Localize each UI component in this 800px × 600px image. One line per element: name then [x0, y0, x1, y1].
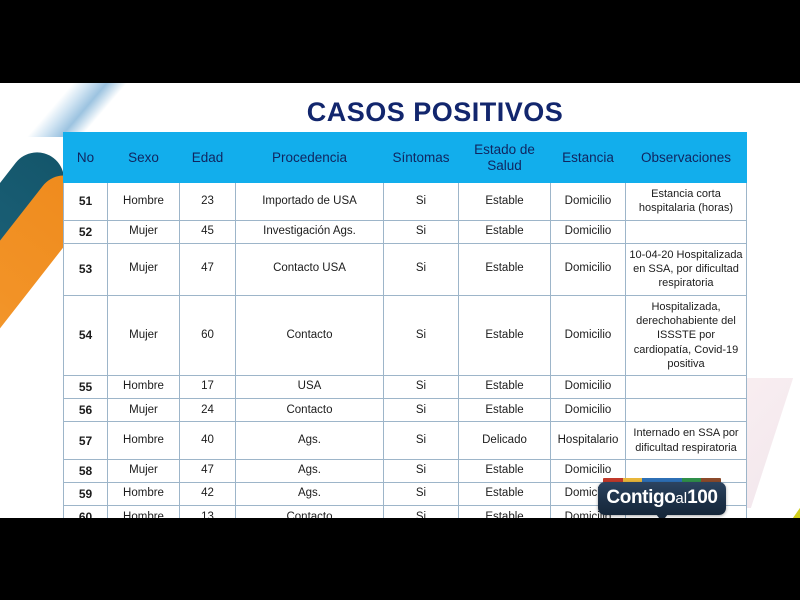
cell-no: 51 — [64, 183, 108, 221]
brand-word-light: al — [675, 490, 687, 507]
cell-estancia: Domicilio — [551, 183, 626, 221]
cell-procedencia: USA — [236, 376, 384, 399]
table-row: 56Mujer24ContactoSiEstableDomicilio — [64, 399, 747, 422]
column-header-procedencia: Procedencia — [236, 133, 384, 183]
cell-edad: 23 — [180, 183, 236, 221]
cell-no: 58 — [64, 460, 108, 483]
cell-procedencia: Ags. — [236, 422, 384, 460]
cell-procedencia: Importado de USA — [236, 183, 384, 221]
cell-sintomas: Si — [384, 483, 459, 506]
cell-sexo: Mujer — [108, 460, 180, 483]
cell-edad: 47 — [180, 460, 236, 483]
cell-procedencia: Contacto — [236, 295, 384, 375]
cell-no: 57 — [64, 422, 108, 460]
cell-edad: 13 — [180, 506, 236, 518]
slide-canvas: CASOS POSITIVOS No Sexo Edad Procedencia… — [0, 83, 800, 518]
cell-estado: Estable — [459, 295, 551, 375]
cell-no: 52 — [64, 220, 108, 243]
table-row: 55Hombre17USASiEstableDomicilio — [64, 376, 747, 399]
cell-edad: 17 — [180, 376, 236, 399]
brand-word-number: 100 — [687, 487, 718, 508]
green-yellow-diagonal-bar-decoration — [740, 356, 800, 518]
cell-estado: Estable — [459, 243, 551, 295]
cell-observaciones — [626, 399, 747, 422]
cell-sintomas: Si — [384, 460, 459, 483]
cell-procedencia: Contacto — [236, 399, 384, 422]
cell-sexo: Hombre — [108, 506, 180, 518]
cell-no: 53 — [64, 243, 108, 295]
brand-logo-bubble: Contigoal100 — [598, 482, 726, 515]
column-header-sintomas: Síntomas — [384, 133, 459, 183]
cell-observaciones: 10-04-20 Hospitalizada en SSA, por dific… — [626, 243, 747, 295]
cell-estado: Estable — [459, 399, 551, 422]
brand-logo: Contigoal100 — [598, 478, 726, 515]
cell-no: 59 — [64, 483, 108, 506]
cell-sintomas: Si — [384, 220, 459, 243]
cell-estancia: Domicilio — [551, 295, 626, 375]
cell-edad: 47 — [180, 243, 236, 295]
column-header-estancia: Estancia — [551, 133, 626, 183]
cell-sintomas: Si — [384, 243, 459, 295]
cell-sexo: Mujer — [108, 295, 180, 375]
cell-sexo: Hombre — [108, 422, 180, 460]
table-row: 57Hombre40Ags.SiDelicadoHospitalarioInte… — [64, 422, 747, 460]
cell-sintomas: Si — [384, 376, 459, 399]
table-row: 52Mujer45Investigación Ags.SiEstableDomi… — [64, 220, 747, 243]
table-header-row: No Sexo Edad Procedencia Síntomas Estado… — [64, 133, 747, 183]
letterbox-bottom — [0, 518, 800, 600]
cell-procedencia: Contacto USA — [236, 243, 384, 295]
column-header-estado-salud: Estado de Salud — [459, 133, 551, 183]
table-row: 51Hombre23Importado de USASiEstableDomic… — [64, 183, 747, 221]
cell-estancia: Domicilio — [551, 243, 626, 295]
cell-sintomas: Si — [384, 399, 459, 422]
cell-sexo: Mujer — [108, 220, 180, 243]
cell-sexo: Mujer — [108, 243, 180, 295]
column-header-edad: Edad — [180, 133, 236, 183]
cell-sintomas: Si — [384, 506, 459, 518]
cell-procedencia: Ags. — [236, 483, 384, 506]
cell-estancia: Domicilio — [551, 399, 626, 422]
cell-sexo: Hombre — [108, 483, 180, 506]
column-header-sexo: Sexo — [108, 133, 180, 183]
cell-estado: Estable — [459, 220, 551, 243]
cell-estado: Delicado — [459, 422, 551, 460]
slide-root: CASOS POSITIVOS No Sexo Edad Procedencia… — [0, 0, 800, 600]
brand-logo-text: Contigoal100 — [606, 487, 717, 508]
cell-estado: Estable — [459, 183, 551, 221]
cell-edad: 42 — [180, 483, 236, 506]
page-title: CASOS POSITIVOS — [0, 97, 800, 128]
column-header-no: No — [64, 133, 108, 183]
cell-sexo: Mujer — [108, 399, 180, 422]
cell-estado: Estable — [459, 506, 551, 518]
cases-table-body: 51Hombre23Importado de USASiEstableDomic… — [64, 183, 747, 519]
cell-estancia: Hospitalario — [551, 422, 626, 460]
cell-sexo: Hombre — [108, 183, 180, 221]
cell-estado: Estable — [459, 376, 551, 399]
cell-no: 56 — [64, 399, 108, 422]
cell-edad: 60 — [180, 295, 236, 375]
cell-sexo: Hombre — [108, 376, 180, 399]
column-header-observaciones: Observaciones — [626, 133, 747, 183]
cell-edad: 45 — [180, 220, 236, 243]
cases-table-container: No Sexo Edad Procedencia Síntomas Estado… — [63, 132, 746, 518]
cell-procedencia: Ags. — [236, 460, 384, 483]
cell-edad: 24 — [180, 399, 236, 422]
cell-sintomas: Si — [384, 422, 459, 460]
brand-word-bold: Contigo — [606, 487, 675, 508]
cell-observaciones: Estancia corta hospitalaria (horas) — [626, 183, 747, 221]
cell-estado: Estable — [459, 483, 551, 506]
cell-estancia: Domicilio — [551, 376, 626, 399]
cell-observaciones: Hospitalizada, derechohabiente del ISSST… — [626, 295, 747, 375]
letterbox-top — [0, 0, 800, 83]
cell-estado: Estable — [459, 460, 551, 483]
cell-no: 60 — [64, 506, 108, 518]
table-row: 54Mujer60ContactoSiEstableDomicilioHospi… — [64, 295, 747, 375]
cell-sintomas: Si — [384, 183, 459, 221]
cell-procedencia: Investigación Ags. — [236, 220, 384, 243]
cell-procedencia: Contacto — [236, 506, 384, 518]
cases-table: No Sexo Edad Procedencia Síntomas Estado… — [63, 132, 747, 518]
table-row: 53Mujer47Contacto USASiEstableDomicilio1… — [64, 243, 747, 295]
cell-no: 54 — [64, 295, 108, 375]
pale-diagonal-bar-decoration — [786, 366, 800, 518]
cell-observaciones: Internado en SSA por dificultad respirat… — [626, 422, 747, 460]
cell-edad: 40 — [180, 422, 236, 460]
cell-observaciones — [626, 376, 747, 399]
cell-no: 55 — [64, 376, 108, 399]
cell-estancia: Domicilio — [551, 220, 626, 243]
cell-sintomas: Si — [384, 295, 459, 375]
cell-observaciones — [626, 220, 747, 243]
